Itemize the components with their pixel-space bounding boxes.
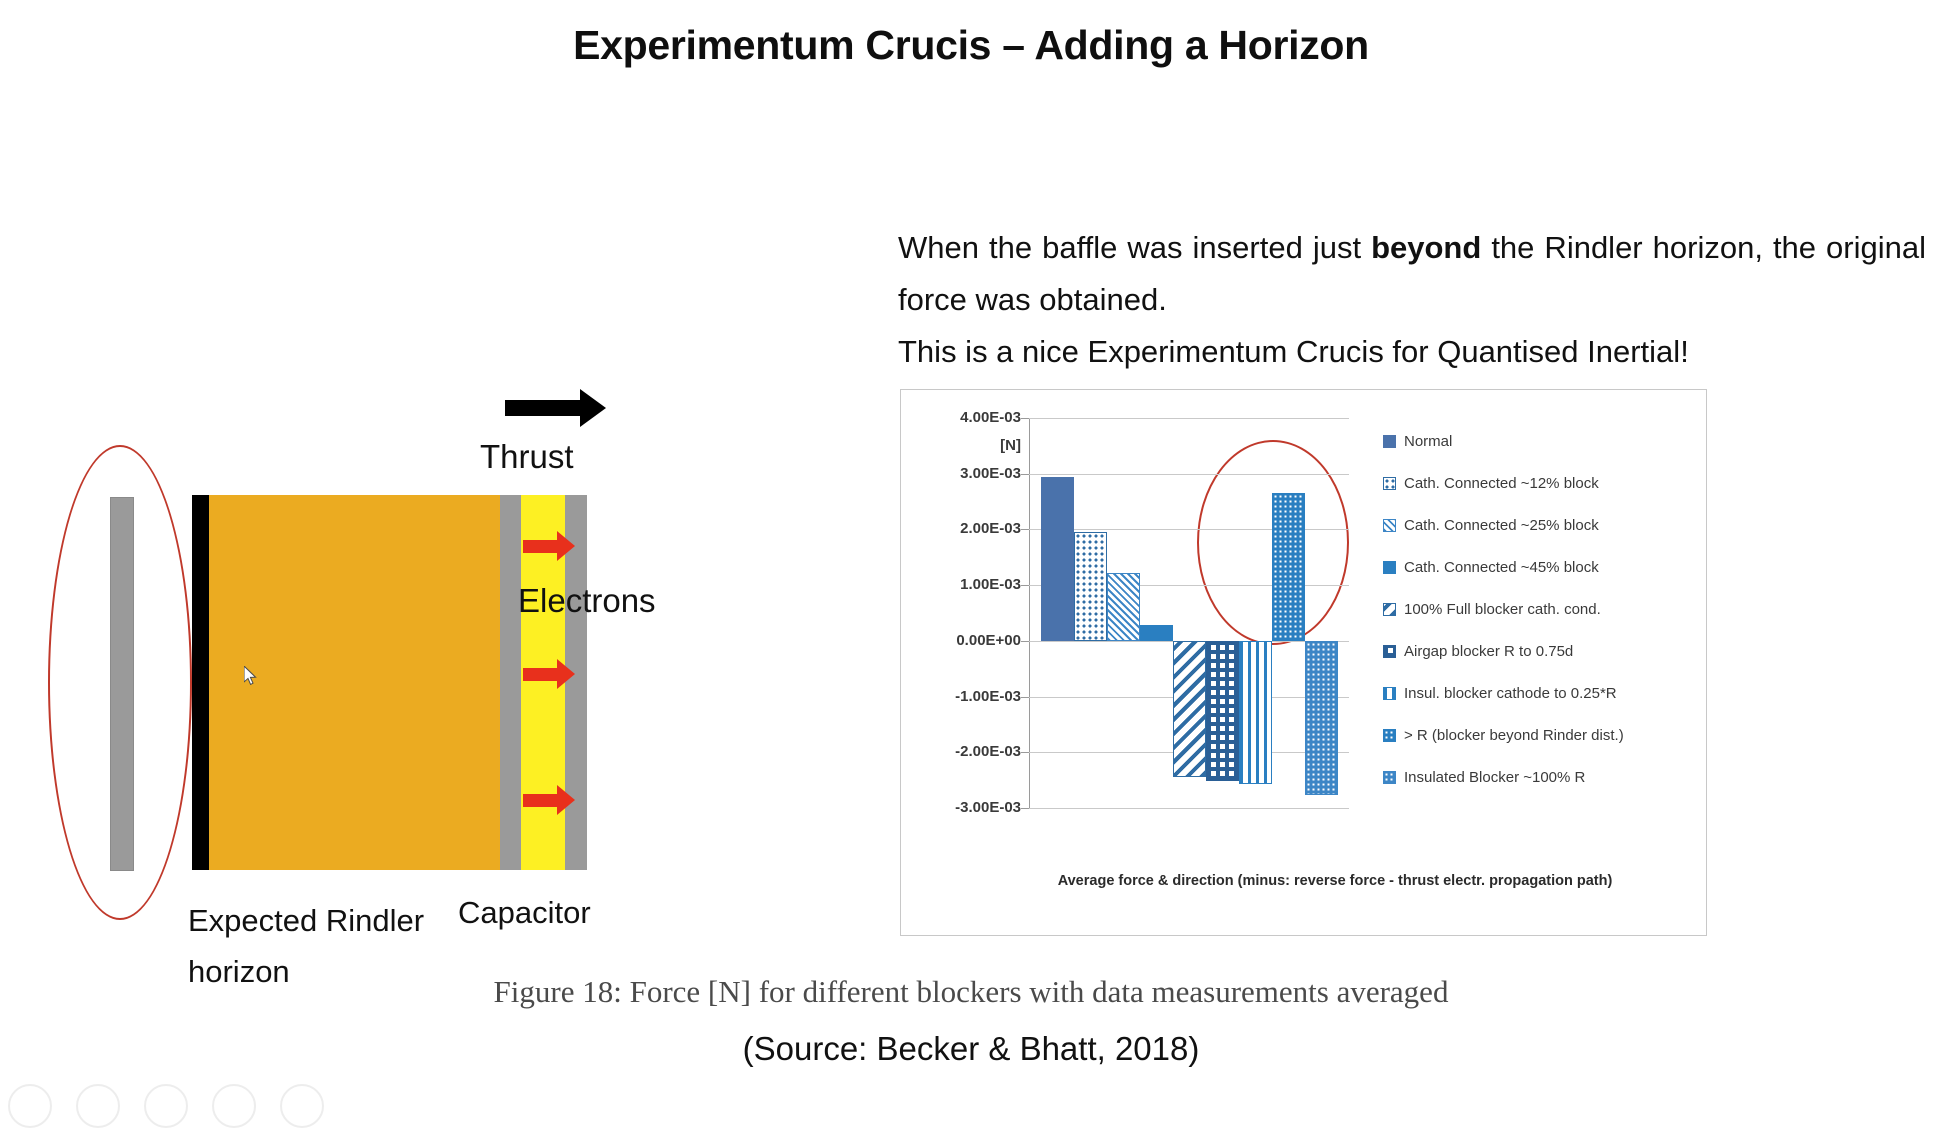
legend-label: Cath. Connected ~25% block [1404, 517, 1599, 534]
legend-label: Insulated Blocker ~100% R [1404, 769, 1585, 786]
figure-caption: Figure 18: Force [N] for different block… [0, 974, 1942, 1010]
y-axis-tick [1021, 474, 1029, 475]
capacitor-label: Capacitor [458, 895, 591, 931]
mouse-pointer-icon [244, 666, 258, 686]
legend-label: Cath. Connected ~12% block [1404, 475, 1599, 492]
y-axis-tick-label: -2.00E-03 [909, 743, 1021, 760]
chart-bar [1140, 625, 1173, 641]
player-button-4[interactable] [212, 1084, 256, 1128]
legend-swatch-icon [1383, 645, 1396, 658]
legend-swatch-icon [1383, 477, 1396, 490]
legend-label: Airgap blocker R to 0.75d [1404, 643, 1573, 660]
electron-arrow-icon [523, 794, 557, 807]
electrons-label: Electrons [518, 582, 656, 620]
chart-bar [1107, 573, 1140, 641]
force-bar-chart: 4.00E-033.00E-032.00E-031.00E-030.00E+00… [900, 389, 1707, 936]
legend-item: Cath. Connected ~45% block [1383, 546, 1703, 588]
player-control-bar[interactable] [0, 1066, 428, 1102]
black-electrode [192, 495, 209, 870]
y-axis-tick-label: 1.00E-03 [909, 576, 1021, 593]
legend-swatch-icon [1383, 687, 1396, 700]
paragraph-line2: This is a nice Experimentum Crucis for Q… [898, 326, 1926, 378]
legend-swatch-icon [1383, 603, 1396, 616]
legend-item: Cath. Connected ~25% block [1383, 504, 1703, 546]
y-axis-tick [1021, 641, 1029, 642]
y-axis-tick [1021, 585, 1029, 586]
legend-label: Insul. blocker cathode to 0.25*R [1404, 685, 1617, 702]
chart-bar [1074, 532, 1107, 641]
legend-swatch-icon [1383, 771, 1396, 784]
gridline [1029, 474, 1349, 475]
legend-item: Insul. blocker cathode to 0.25*R [1383, 672, 1703, 714]
legend-swatch-icon [1383, 729, 1396, 742]
chart-legend: NormalCath. Connected ~12% blockCath. Co… [1383, 420, 1703, 798]
legend-swatch-icon [1383, 561, 1396, 574]
chart-bar [1305, 641, 1338, 795]
y-axis-tick [1021, 752, 1029, 753]
y-axis-tick [1021, 697, 1029, 698]
legend-item: 100% Full blocker cath. cond. [1383, 588, 1703, 630]
chart-bar [1206, 641, 1239, 781]
baffle-plate [110, 497, 134, 871]
body-paragraph: When the baffle was inserted just beyond… [898, 222, 1926, 378]
thrust-arrow-icon [505, 400, 580, 416]
player-button-1[interactable] [8, 1084, 52, 1128]
y-axis-tick-label: 0.00E+00 [909, 632, 1021, 649]
source-citation: (Source: Becker & Bhatt, 2018) [0, 1030, 1942, 1068]
y-axis-tick-label: -3.00E-03 [909, 799, 1021, 816]
apparatus-diagram: Thrust Electrons Expected Rindler horizo… [0, 150, 700, 950]
y-axis-tick-label: 2.00E-03 [909, 520, 1021, 537]
chart-bar [1239, 641, 1272, 784]
legend-item: > R (blocker beyond Rinder dist.) [1383, 714, 1703, 756]
chart-bar [1173, 641, 1206, 778]
paragraph-emphasis-beyond: beyond [1371, 230, 1481, 265]
legend-item: Cath. Connected ~12% block [1383, 462, 1703, 504]
electron-arrow-icon [523, 540, 557, 553]
legend-label: 100% Full blocker cath. cond. [1404, 601, 1601, 618]
player-button-5[interactable] [280, 1084, 324, 1128]
legend-label: > R (blocker beyond Rinder dist.) [1404, 727, 1624, 744]
player-button-3[interactable] [144, 1084, 188, 1128]
paragraph-line1-a: When the baffle was inserted just [898, 230, 1371, 265]
legend-swatch-icon [1383, 519, 1396, 532]
chart-bar [1272, 493, 1305, 641]
page-title: Experimentum Crucis – Adding a Horizon [0, 22, 1942, 69]
y-axis-tick-label: -1.00E-03 [909, 688, 1021, 705]
x-axis-label: Average force & direction (minus: revers… [1005, 873, 1665, 889]
legend-label: Normal [1404, 433, 1452, 450]
gridline [1029, 808, 1349, 809]
y-axis-tick [1021, 418, 1029, 419]
y-axis-tick [1021, 529, 1029, 530]
thrust-label: Thrust [480, 438, 574, 476]
y-axis-tick [1021, 808, 1029, 809]
y-axis-line [1029, 418, 1030, 808]
legend-swatch-icon [1383, 435, 1396, 448]
y-axis-tick-label: 3.00E-03 [909, 465, 1021, 482]
legend-item: Insulated Blocker ~100% R [1383, 756, 1703, 798]
legend-item: Airgap blocker R to 0.75d [1383, 630, 1703, 672]
electron-arrow-icon [523, 668, 557, 681]
legend-item: Normal [1383, 420, 1703, 462]
y-axis-unit-label: [N] [909, 437, 1021, 454]
y-axis-tick-label: 4.00E-03 [909, 409, 1021, 426]
chart-bar [1041, 477, 1074, 641]
legend-label: Cath. Connected ~45% block [1404, 559, 1599, 576]
capacitor-plate-left [500, 495, 521, 870]
player-button-2[interactable] [76, 1084, 120, 1128]
gridline [1029, 418, 1349, 419]
